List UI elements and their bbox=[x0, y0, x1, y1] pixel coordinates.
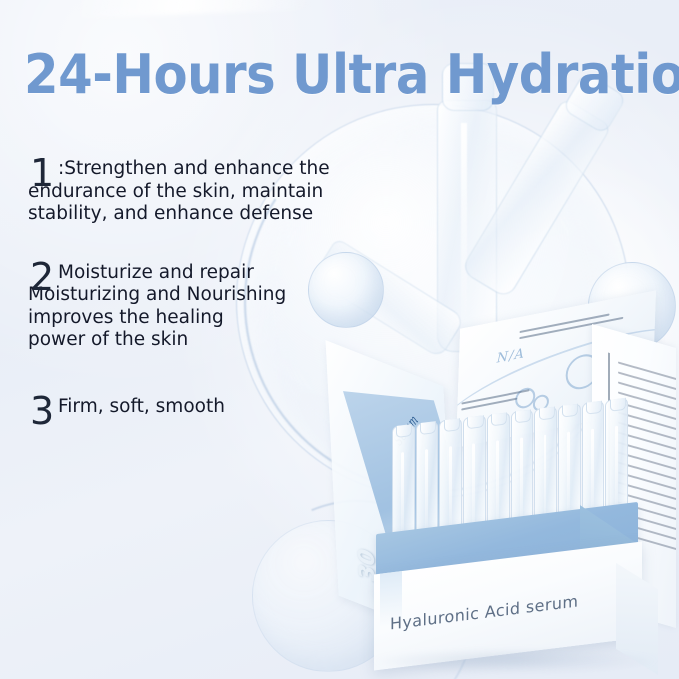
list-item: 1 :Strengthen and enhance the endurance … bbox=[28, 158, 388, 226]
lid-brand-mark: N/A bbox=[497, 346, 526, 367]
product-name-label: Hyaluronic Acid serum bbox=[390, 591, 578, 633]
advertisement-banner: 24-Hours Ultra Hydration 1 :Strengthen a… bbox=[0, 0, 679, 679]
product-shadow bbox=[370, 648, 660, 674]
ghost-ampoule-right-icon bbox=[460, 98, 612, 300]
list-item-number: 2 bbox=[30, 258, 54, 296]
list-item-number: 1 bbox=[30, 154, 54, 192]
list-item-text: :Strengthen and enhance the endurance of… bbox=[28, 158, 388, 226]
light-streak-decoration bbox=[78, 0, 309, 18]
page-title: 24-Hours Ultra Hydration bbox=[24, 46, 613, 104]
list-item-number: 3 bbox=[30, 392, 54, 430]
product-photo: N/A Serum 30 bbox=[330, 300, 679, 679]
